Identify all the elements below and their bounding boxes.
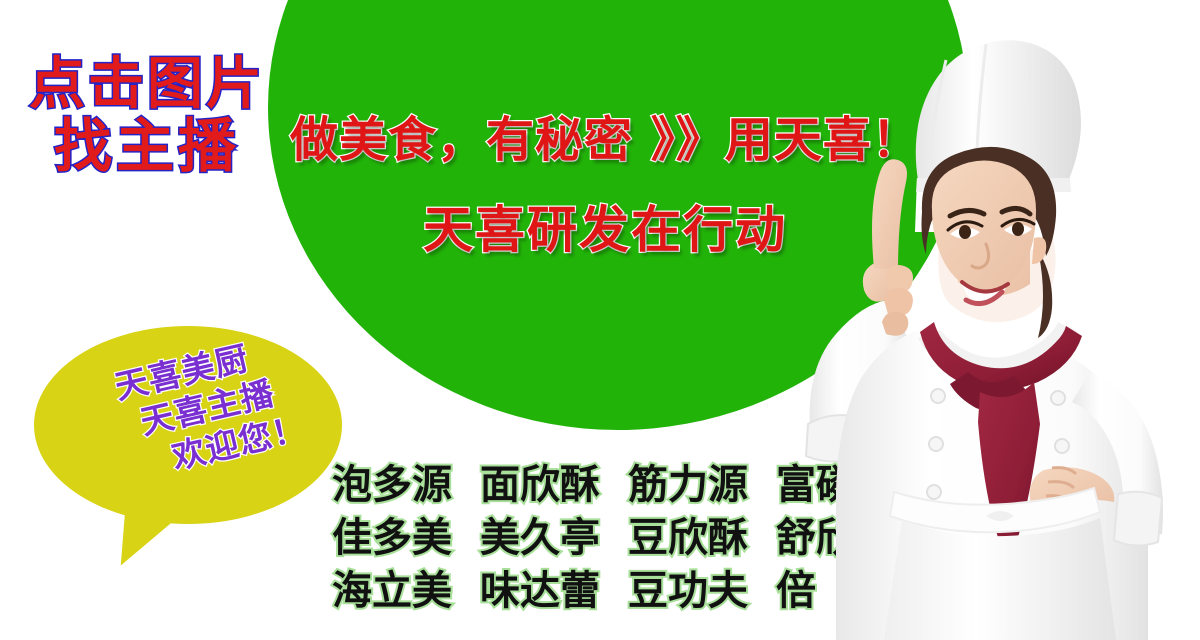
right-eye [1012, 222, 1024, 236]
mouth [962, 282, 1008, 302]
product-name[interactable]: 富磷联 [776, 452, 896, 510]
headline-block: 做美食，有秘密 》》用天喜！ 天喜研发在行动 [290, 100, 920, 262]
product-name[interactable]: 筋力源 [628, 452, 748, 510]
product-name[interactable]: 美久亭 [480, 505, 600, 563]
product-name[interactable]: 七彩滴 [942, 558, 1062, 616]
product-name[interactable]: 海立美 [332, 558, 452, 616]
product-name[interactable]: 味达蕾 [480, 558, 600, 616]
coat-button [931, 389, 945, 403]
headline-line-1: 做美食，有秘密 》》用天喜！ [290, 100, 920, 170]
product-name[interactable]: 倍 田 [776, 558, 924, 616]
product-name[interactable]: 泡多源 [332, 452, 452, 510]
headline-line-2: 天喜研发在行动 [290, 190, 920, 262]
click-cta-line-1: 点击图片 [22, 55, 272, 115]
product-row: 佳多美 美久亭 豆欣酥 舒欣脆 [332, 505, 1090, 558]
coat-button [1051, 391, 1065, 405]
coat-button [929, 437, 943, 451]
product-row: 海立美 味达蕾 豆功夫 倍 田 七彩滴 [332, 558, 1090, 611]
product-name[interactable]: 舒欣脆 [776, 505, 896, 563]
promo-banner: 点击图片 找主播 做美食，有秘密 》》用天喜！ 天喜研发在行动 天喜美厨 天喜主… [0, 0, 1200, 640]
left-eye [959, 225, 971, 239]
product-name[interactable]: 豆功夫 [628, 558, 748, 616]
product-row: 泡多源 面欣酥 筋力源 富磷联 [332, 452, 1090, 505]
product-name[interactable]: 佳多美 [332, 505, 452, 563]
product-name[interactable]: 豆欣酥 [628, 505, 748, 563]
click-cta[interactable]: 点击图片 找主播 [22, 55, 272, 178]
product-name-list: 泡多源 面欣酥 筋力源 富磷联 佳多美 美久亭 豆欣酥 舒欣脆 海立美 味达蕾 … [332, 452, 1090, 611]
product-name[interactable]: 面欣酥 [480, 452, 600, 510]
click-cta-line-2: 找主播 [22, 115, 272, 178]
neck [958, 226, 1030, 296]
coat-button [1055, 439, 1069, 453]
